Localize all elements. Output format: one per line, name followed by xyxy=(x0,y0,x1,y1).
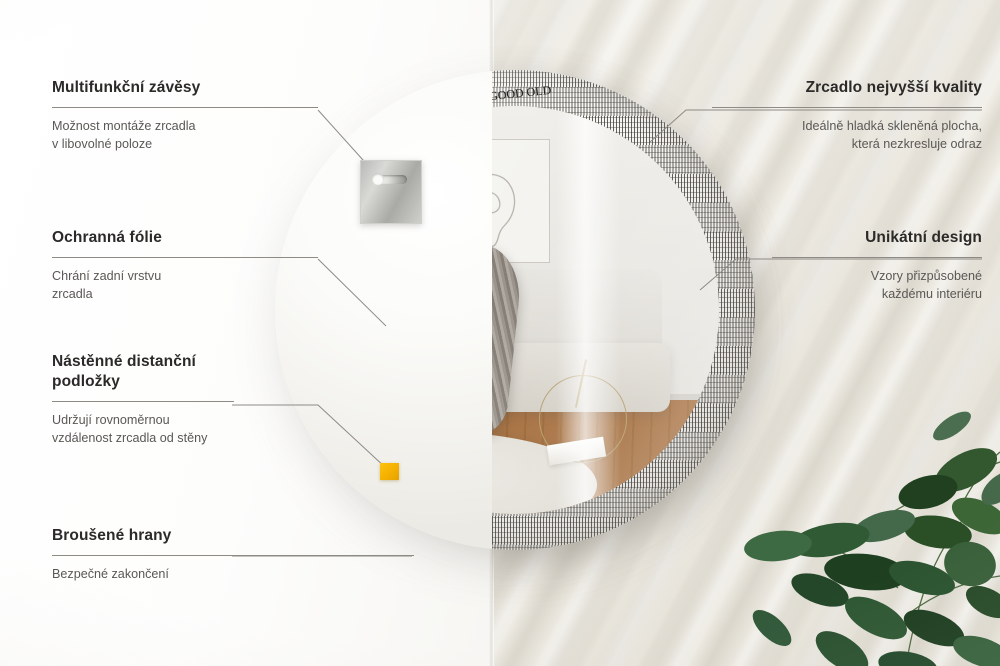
callout-line-1: Bezpečné zakončení xyxy=(52,566,414,584)
callout-title: Zrcadlo nejvyšší kvality xyxy=(712,78,982,98)
callout-rule xyxy=(52,257,318,258)
callout-rule xyxy=(52,555,414,556)
callout-zrcadlo-nejvyssi-kvality: Zrcadlo nejvyšší kvality Ideálně hladká … xyxy=(712,78,982,154)
hanger-keyhole-slot xyxy=(375,175,407,184)
callout-multifunkcni-zavesy: Multifunkční závěsy Možnost montáže zrca… xyxy=(52,78,320,154)
callout-line-2: která nezkresluje odraz xyxy=(712,136,982,154)
callout-line-1: Udržují rovnoměrnou xyxy=(52,412,238,430)
callout-title: Nástěnné distanční podložky xyxy=(52,352,238,392)
spacer-pad-marker xyxy=(380,463,399,480)
infographic-canvas: International news NE business digest ES… xyxy=(0,0,1000,666)
callout-ochranna-folie: Ochranná fólie Chrání zadní vrstvu zrcad… xyxy=(52,228,320,304)
callout-rule xyxy=(712,107,982,108)
callout-title: Multifunkční závěsy xyxy=(52,78,320,98)
callout-line-2: vzdálenost zrcadla od stěny xyxy=(52,430,238,448)
callout-line-2: každému interiéru xyxy=(772,286,982,304)
callout-line-1: Vzory přizpůsobené xyxy=(772,268,982,286)
callout-unikatni-design: Unikátní design Vzory přizpůsobené každé… xyxy=(772,228,982,304)
callout-rule xyxy=(52,107,318,108)
hanger-plate-marker xyxy=(360,160,422,224)
callout-line-2: zrcadla xyxy=(52,286,320,304)
reflected-art-frame xyxy=(492,139,550,263)
callout-brousene-hrany: Broušené hrany Bezpečné zakončení xyxy=(52,526,414,584)
callout-title: Broušené hrany xyxy=(52,526,414,546)
callout-nastenne-distancni-podlozky: Nástěnné distanční podložky Udržují rovn… xyxy=(52,352,238,447)
decorative-foliage xyxy=(670,366,1000,666)
callout-rule xyxy=(772,257,982,258)
callout-line-1: Možnost montáže zrcadla xyxy=(52,118,320,136)
callout-title: Ochranná fólie xyxy=(52,228,320,248)
callout-line-1: Ideálně hladká skleněná plocha, xyxy=(712,118,982,136)
callout-line-1: Chrání zadní vrstvu xyxy=(52,268,320,286)
callout-line-2: v libovolné poloze xyxy=(52,136,320,154)
callout-title: Unikátní design xyxy=(772,228,982,248)
callout-rule xyxy=(52,401,234,402)
glass-highlight-band xyxy=(556,106,621,514)
